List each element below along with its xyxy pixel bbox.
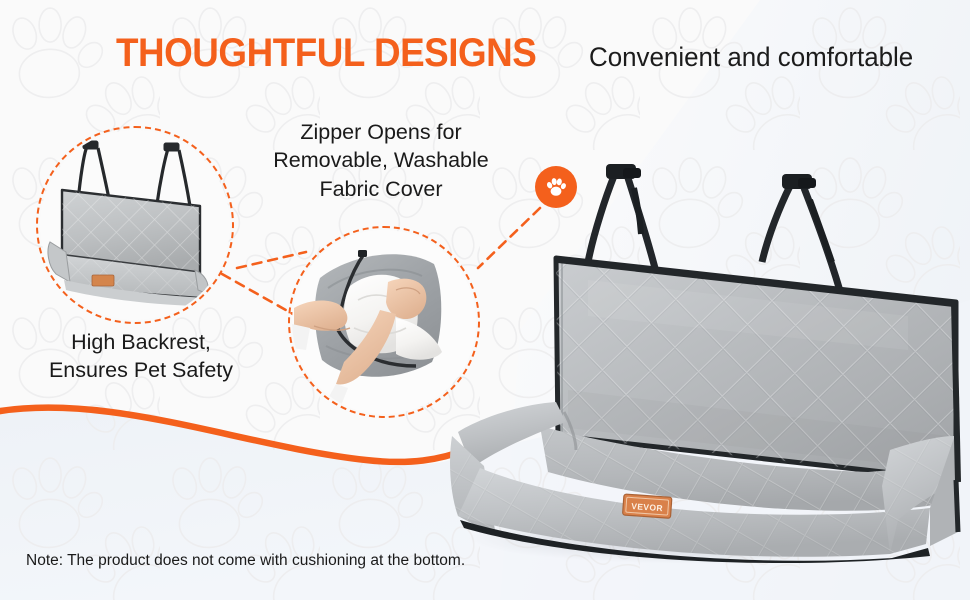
dashed-ring	[36, 126, 234, 324]
header: THOUGHTFUL DESIGNS Convenient and comfor…	[116, 33, 927, 73]
callout-label-high-backrest: High Backrest, Ensures Pet Safety	[28, 328, 254, 385]
strap-right	[762, 174, 842, 298]
page-subtitle: Convenient and comfortable	[589, 44, 913, 71]
callout-circle-high-backrest[interactable]	[36, 126, 234, 324]
product-image-main: VEVOR	[438, 150, 970, 570]
page-title: THOUGHTFUL DESIGNS	[116, 33, 536, 73]
brand-label: VEVOR	[623, 494, 672, 518]
infographic-canvas: THOUGHTFUL DESIGNS Convenient and comfor…	[0, 0, 970, 600]
